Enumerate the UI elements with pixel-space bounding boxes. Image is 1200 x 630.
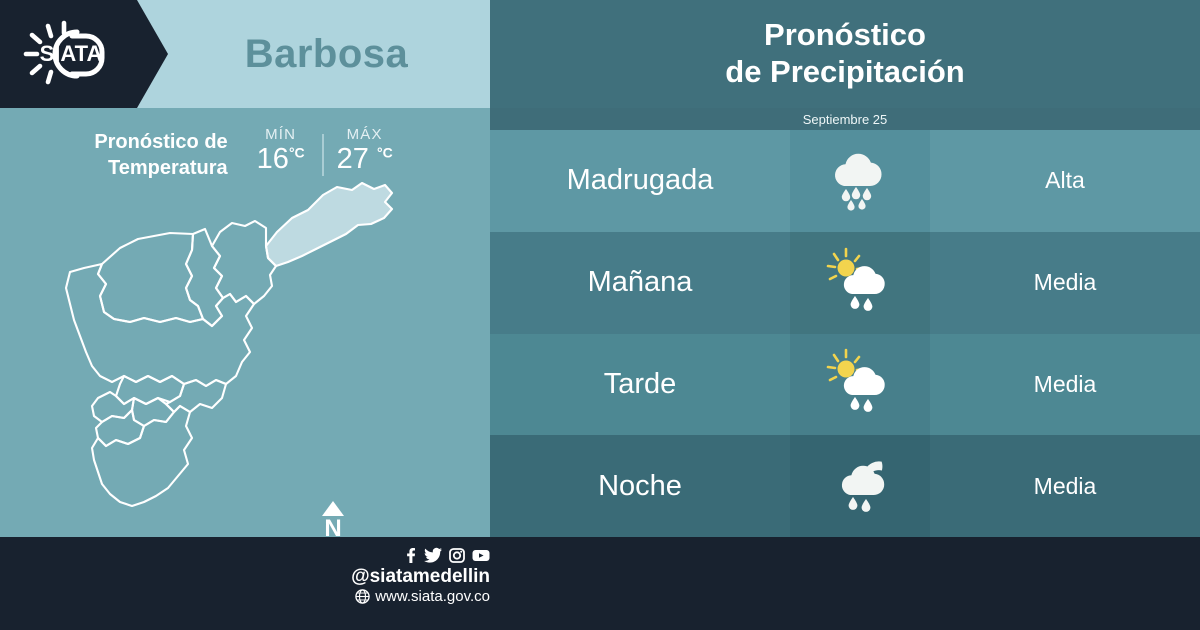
- probability-cell: Media: [930, 334, 1200, 436]
- period-label: Madrugada: [567, 164, 714, 197]
- weather-icon-cell: [790, 130, 930, 232]
- social-icons: [330, 547, 490, 563]
- sun-rain-cloud-icon: [823, 246, 897, 320]
- probability-cell: Media: [930, 435, 1200, 537]
- table-row: Madrugada Alta: [490, 130, 1200, 232]
- probability-cell: Alta: [930, 130, 1200, 232]
- map-region-barbosa: [266, 183, 392, 266]
- probability-label: Media: [1034, 473, 1097, 500]
- weather-icon-cell: [790, 232, 930, 334]
- map-region-bello: [98, 233, 203, 322]
- twitter-icon[interactable]: [424, 547, 442, 563]
- max-unit: °C: [377, 144, 393, 160]
- max-value: 27 °C: [337, 144, 393, 174]
- table-row: Tarde: [490, 334, 1200, 436]
- forecast-date-band: Septiembre 25: [490, 108, 1200, 130]
- north-arrow-icon: [322, 501, 344, 516]
- map-region-medellin: [66, 264, 254, 386]
- website-line[interactable]: www.siata.gov.co: [330, 588, 490, 605]
- left-panel: Pronóstico de Temperatura MÍN 16°C MÁX 2…: [0, 108, 490, 537]
- facebook-icon[interactable]: [403, 547, 417, 563]
- period-label: Mañana: [588, 266, 693, 299]
- moon-rain-cloud-icon: [823, 449, 897, 523]
- temperature-title: Pronóstico de Temperatura: [94, 118, 227, 181]
- probability-cell: Media: [930, 232, 1200, 334]
- temperature-min: MÍN 16°C: [250, 126, 312, 174]
- siata-logo-text: SIATA: [40, 41, 103, 66]
- max-label: MÁX: [347, 126, 383, 143]
- youtube-icon[interactable]: [472, 547, 490, 563]
- precipitation-forecast-table: Madrugada Alta: [490, 130, 1200, 537]
- map-region-itagui: [92, 392, 134, 422]
- weather-icon-cell: [790, 435, 930, 537]
- social-handle[interactable]: @siatamedellin: [330, 566, 490, 588]
- sun-cloud-icon: SIATA: [14, 14, 124, 94]
- weather-icon-cell: [790, 334, 930, 436]
- period-cell: Noche: [490, 435, 790, 537]
- period-cell: Tarde: [490, 334, 790, 436]
- table-row: Mañana: [490, 232, 1200, 334]
- siata-logo-banner: SIATA: [0, 0, 168, 108]
- forecast-title-line1: Pronóstico: [764, 17, 926, 54]
- temperature-divider: [322, 134, 324, 176]
- map-region-caldas: [92, 406, 192, 506]
- infographic-canvas: Barbosa SIATA Pronóstico de Temperatura: [0, 0, 1200, 630]
- temperature-values: MÍN 16°C MÁX 27 °C: [250, 118, 396, 176]
- period-cell: Madrugada: [490, 130, 790, 232]
- aburra-valley-map: N: [40, 176, 460, 526]
- website-url: www.siata.gov.co: [375, 588, 490, 605]
- instagram-icon[interactable]: [449, 547, 465, 563]
- period-label: Noche: [598, 470, 682, 503]
- period-cell: Mañana: [490, 232, 790, 334]
- sun-rain-cloud-icon: [823, 347, 897, 421]
- right-header-band: Pronóstico de Precipitación: [490, 0, 1200, 108]
- map-region-envigado: [166, 380, 226, 412]
- min-value: 16°C: [257, 144, 305, 174]
- map-svg: [40, 176, 460, 526]
- rain-cloud-icon: [823, 144, 897, 218]
- period-label: Tarde: [604, 368, 677, 401]
- temperature-title-line1: Pronóstico de: [94, 130, 227, 156]
- page-title: Barbosa: [163, 0, 490, 108]
- social-block: @siatamedellin www.siata.gov.co: [330, 547, 490, 605]
- globe-icon: [355, 589, 370, 604]
- forecast-title-line2: de Precipitación: [725, 54, 964, 91]
- min-label: MÍN: [265, 126, 296, 143]
- forecast-date: Septiembre 25: [803, 112, 888, 127]
- temperature-max: MÁX 27 °C: [334, 126, 396, 174]
- probability-label: Media: [1034, 371, 1097, 398]
- map-region-girardota: [212, 221, 276, 304]
- probability-label: Alta: [1045, 167, 1085, 194]
- min-unit: °C: [289, 144, 305, 160]
- probability-label: Media: [1034, 269, 1097, 296]
- table-row: Noche Media: [490, 435, 1200, 537]
- footer: @siatamedellin www.siata.gov.co Con el a…: [0, 537, 1200, 630]
